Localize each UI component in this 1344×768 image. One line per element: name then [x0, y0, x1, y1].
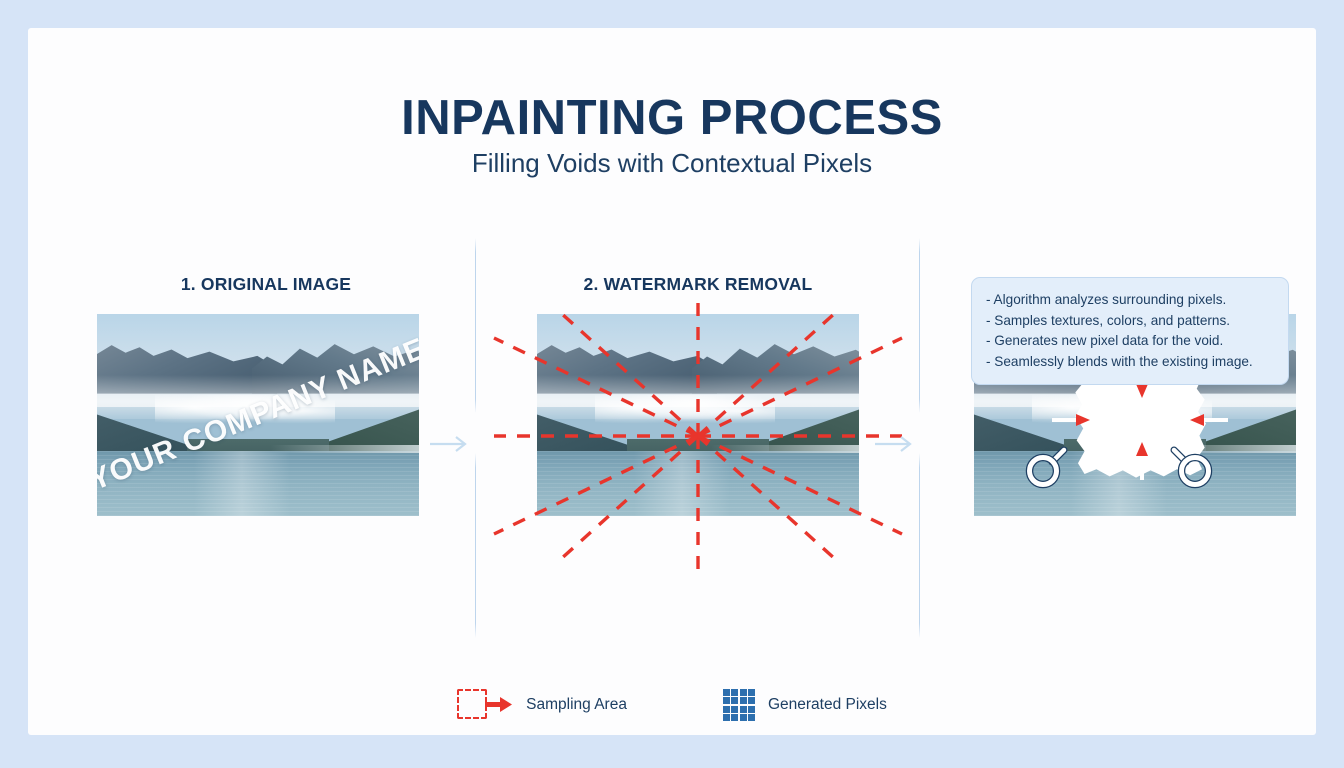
pixel-cell — [748, 697, 755, 704]
column-divider-1 — [475, 238, 476, 413]
column-divider-1-lower — [475, 453, 476, 638]
step-1-heading: 1. ORIGINAL IMAGE — [56, 274, 476, 295]
pixel-cell — [723, 714, 730, 721]
magnifier-icon-bottom-right — [1170, 446, 1214, 490]
dashed-square-icon — [457, 689, 487, 719]
dashed-square-arrow-icon — [457, 688, 513, 722]
note-line: - Generates new pixel data for the void. — [986, 331, 1274, 352]
legend-item-sampling-area: Sampling Area — [457, 688, 627, 722]
pixel-cell — [748, 714, 755, 721]
lake-reflection — [537, 451, 859, 516]
pixel-cell — [731, 714, 738, 721]
step-2-heading: 2. WATERMARK REMOVAL — [476, 274, 920, 295]
step-1-image: YOUR COMPANY NAME — [97, 314, 419, 516]
pixel-cell — [740, 697, 747, 704]
infographic-canvas: INPAINTING PROCESS Filling Voids with Co… — [0, 0, 1344, 768]
legend-item-generated-pixels: Generated Pixels — [723, 689, 887, 721]
pixel-cell — [731, 689, 738, 696]
pixel-cell — [740, 706, 747, 713]
atmospheric-haze — [537, 375, 859, 419]
algorithm-notes-box: - Algorithm analyzes surrounding pixels.… — [971, 277, 1289, 385]
connector-1-to-2 — [428, 433, 472, 455]
page-title: INPAINTING PROCESS — [28, 90, 1316, 146]
pixel-cell — [731, 697, 738, 704]
pixel-cell — [740, 689, 747, 696]
arrow-right-icon — [485, 696, 513, 713]
shoreline — [271, 445, 419, 453]
connector-2-to-3 — [873, 433, 917, 455]
arrow-right-icon — [428, 433, 472, 455]
legend-label-generated-pixels: Generated Pixels — [768, 696, 887, 714]
content-card: INPAINTING PROCESS Filling Voids with Co… — [28, 28, 1316, 735]
pixel-cell — [740, 714, 747, 721]
pixel-cell — [748, 706, 755, 713]
note-line: - Samples textures, colors, and patterns… — [986, 311, 1274, 332]
pixel-grid-icon — [723, 689, 755, 721]
magnifier-icon-bottom-left — [1024, 446, 1068, 490]
shoreline — [711, 445, 859, 453]
column-divider-2 — [919, 238, 920, 413]
void-arrow-left-icon — [1052, 413, 1092, 427]
step-2-image — [537, 314, 859, 516]
atmospheric-haze — [97, 375, 419, 419]
page-subtitle: Filling Voids with Contextual Pixels — [28, 148, 1316, 179]
pixel-cell — [723, 697, 730, 704]
note-line: - Algorithm analyzes surrounding pixels. — [986, 290, 1274, 311]
void-arrow-bottom-icon — [1135, 440, 1149, 480]
column-divider-2-lower — [919, 453, 920, 638]
legend: Sampling Area Generated Pixels — [28, 688, 1316, 722]
pixel-cell — [723, 689, 730, 696]
pixel-cell — [731, 706, 738, 713]
legend-label-sampling-area: Sampling Area — [526, 696, 627, 714]
void-arrow-right-icon — [1188, 413, 1228, 427]
pixel-cell — [723, 706, 730, 713]
arrow-right-icon — [873, 433, 917, 455]
pixel-cell — [748, 689, 755, 696]
note-line: - Seamlessly blends with the existing im… — [986, 352, 1274, 373]
lake-reflection — [97, 451, 419, 516]
